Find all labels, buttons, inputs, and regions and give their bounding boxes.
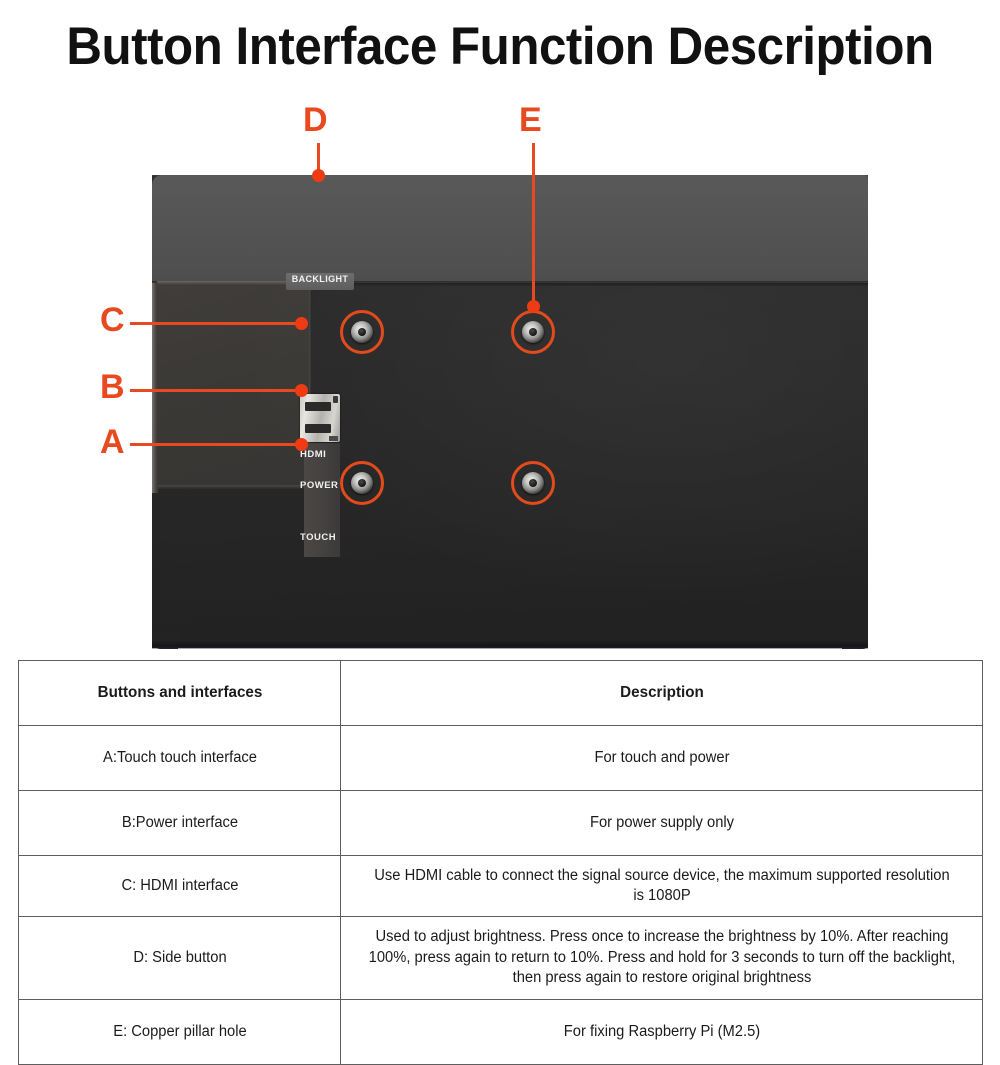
cell-description-c: Use HDMI cable to connect the signal sou…: [357, 856, 967, 917]
callout-dot-e: [527, 300, 540, 313]
callout-letter-a: A: [100, 425, 125, 459]
copper-pillar-hole-top-right: [522, 321, 544, 343]
column-header-description: Description: [357, 661, 967, 726]
copper-pillar-hole-bottom-right: [522, 472, 544, 494]
hdmi-port: [300, 394, 340, 442]
callout-leader-c: [130, 322, 301, 325]
backlight-button-label: BACKLIGHT: [286, 274, 354, 284]
cell-item-e: E: Copper pillar hole: [27, 1000, 333, 1065]
cell-item-c: C: HDMI interface: [27, 856, 333, 917]
table-header-row: Buttons and interfaces Description: [19, 661, 983, 726]
cell-description-a: For touch and power: [357, 726, 967, 791]
callout-letter-b: B: [100, 370, 125, 404]
cell-description-b: For power supply only: [357, 791, 967, 856]
page-title: Button Interface Function Description: [35, 16, 965, 77]
cell-item-a: A:Touch touch interface: [27, 726, 333, 791]
table-row: D: Side button Used to adjust brightness…: [19, 917, 983, 1000]
table-row: B:Power interface For power supply only: [19, 791, 983, 856]
panel-left-rim: [152, 283, 158, 493]
hdmi-foot: [329, 436, 338, 441]
product-photo: BACKLIGHT HDMI POWER TOUCH D E C B A: [0, 95, 1000, 655]
hdmi-notch: [333, 396, 338, 403]
hdmi-slot-lower: [305, 424, 331, 433]
callout-letter-e: E: [519, 103, 542, 137]
callout-leader-b: [130, 389, 301, 392]
callout-dot-b: [295, 384, 308, 397]
cell-item-d: D: Side button: [27, 917, 333, 1000]
port-label-hdmi: HDMI: [300, 449, 364, 460]
cell-description-d: Used to adjust brightness. Press once to…: [357, 917, 967, 1000]
monitor-top-bezel: [152, 175, 868, 283]
port-label-touch: TOUCH: [300, 532, 364, 543]
table-row: E: Copper pillar hole For fixing Raspber…: [19, 1000, 983, 1065]
callout-letter-d: D: [303, 103, 328, 137]
callout-dot-d: [312, 169, 325, 182]
callout-leader-e: [532, 143, 535, 308]
table-row: C: HDMI interface Use HDMI cable to conn…: [19, 856, 983, 917]
port-bay-bottom-edge: [157, 485, 311, 489]
recessed-port-bay: [157, 283, 311, 488]
callout-dot-a: [295, 438, 308, 451]
callout-leader-a: [130, 443, 301, 446]
table-row: A:Touch touch interface For touch and po…: [19, 726, 983, 791]
copper-pillar-hole-top-left: [351, 321, 373, 343]
button-interface-table: Buttons and interfaces Description A:Tou…: [18, 660, 983, 1065]
hdmi-slot-upper: [305, 402, 331, 411]
cell-item-b: B:Power interface: [27, 791, 333, 856]
panel-bottom-shadow: [152, 640, 868, 649]
callout-letter-c: C: [100, 303, 125, 337]
cell-description-e: For fixing Raspberry Pi (M2.5): [357, 1000, 967, 1065]
column-header-buttons-and-interfaces: Buttons and interfaces: [27, 661, 333, 726]
copper-pillar-hole-bottom-left: [351, 472, 373, 494]
callout-dot-c: [295, 317, 308, 330]
